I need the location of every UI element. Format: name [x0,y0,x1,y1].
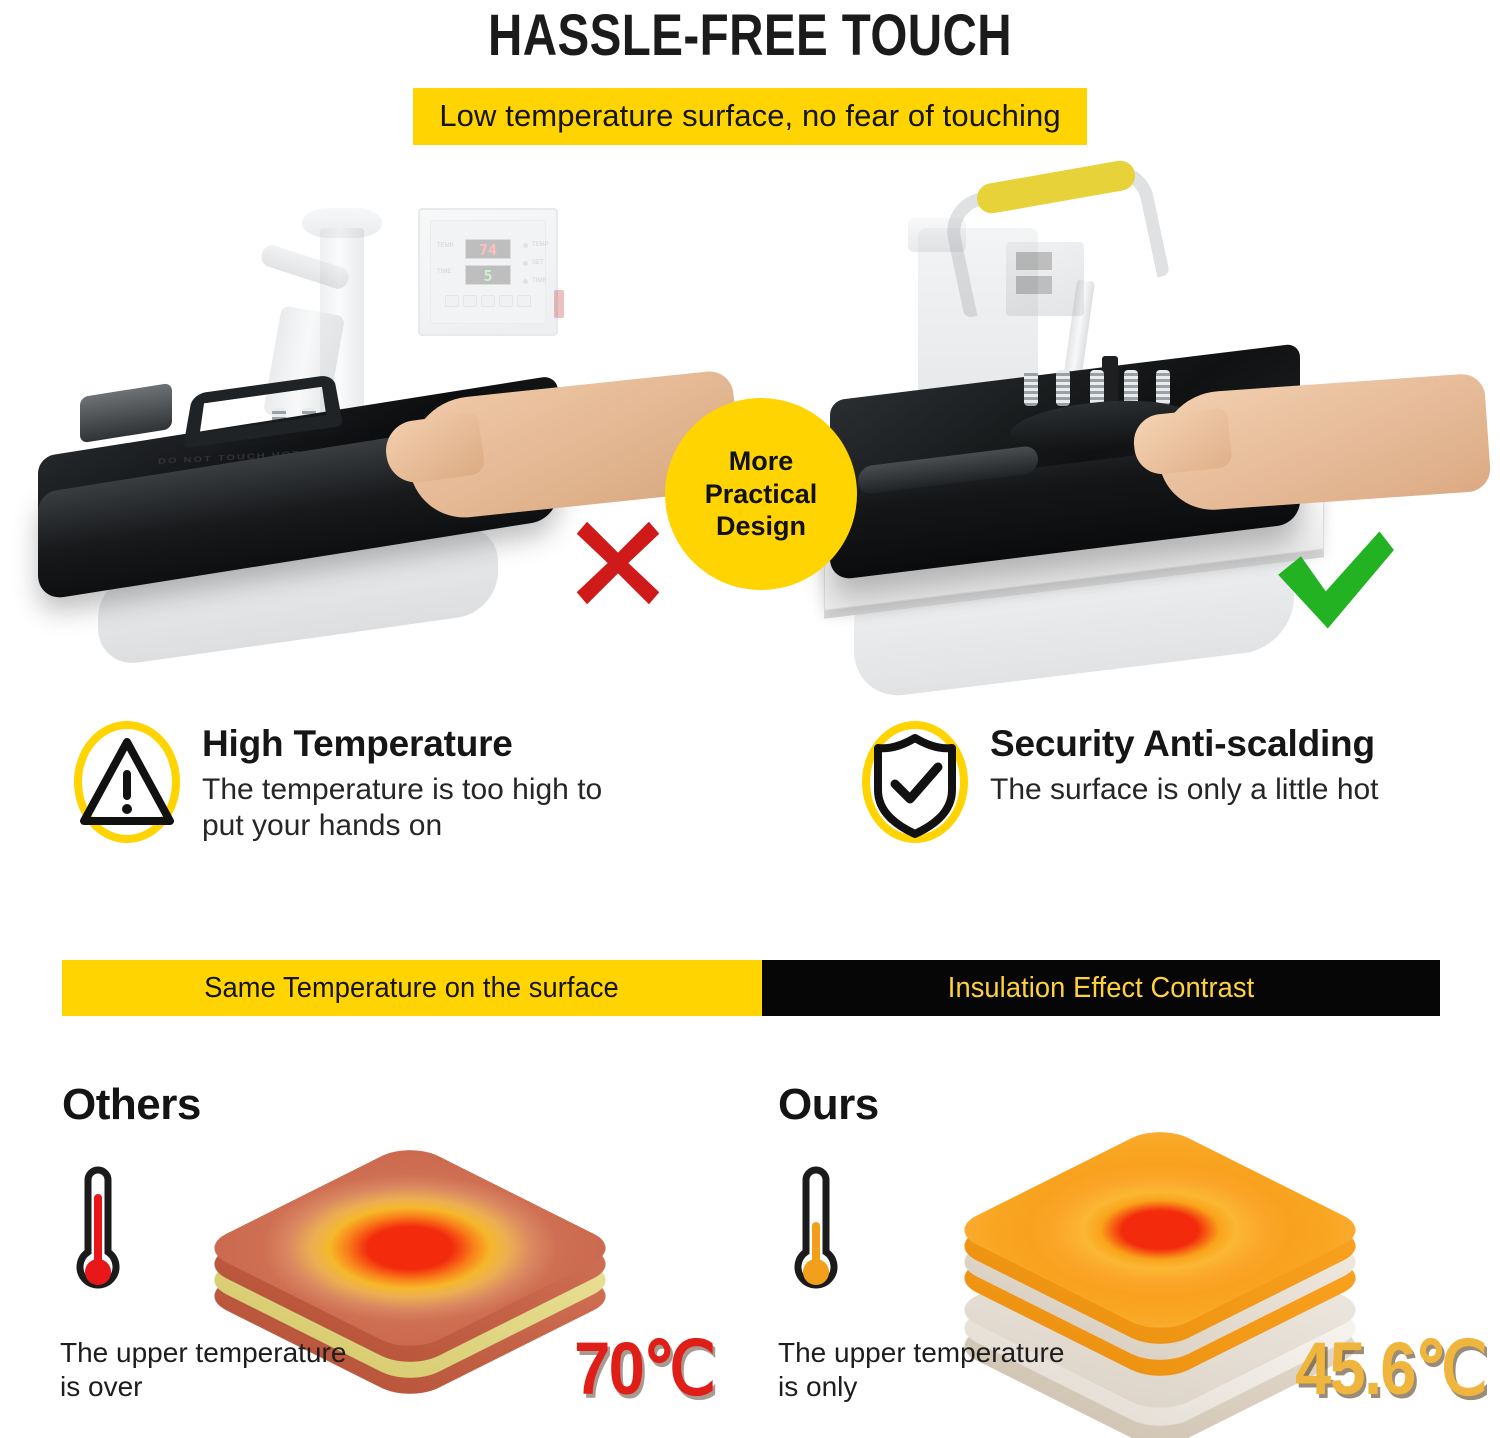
led-set-icon [523,261,528,266]
temperature-value-others: 70℃ [574,1326,714,1412]
photo-anti-scalding-press [800,160,1490,720]
comparison-ours: Ours The upper temperature is only [750,1040,1500,1438]
panel-label-time: TIME [437,269,451,275]
footnote-text-ours: The upper temperature is only [778,1336,1078,1404]
insulation-comparison: Others The upper temperature is over 70℃ [0,1040,1500,1438]
ours-plate-stack [950,1050,1370,1310]
control-box: TEMP TIME 74 5 TEMP SET TIME [418,208,558,336]
banner-label-2: Insulation Effect Contrast [948,972,1255,1005]
panel-button-4[interactable] [499,295,513,307]
fingers-right [1131,407,1233,477]
comparison-others: Others The upper temperature is over 70℃ [0,1040,750,1438]
led-label-time: TIME [532,278,546,284]
shield-check-icon [858,718,972,846]
comparison-label-ours: Ours [778,1080,879,1130]
temperature-value-ours: 45.6℃ [1295,1326,1486,1412]
panel-button-2[interactable] [463,295,477,307]
comparison-label-others: Others [62,1080,201,1130]
badge-line-1: More [729,445,794,477]
caption-heading-left: High Temperature [202,724,642,764]
caption-body-left: The temperature is too high to put your … [202,772,642,844]
banner-label-1: Same Temperature on the surface [205,972,620,1005]
led-temp-icon [523,243,528,248]
others-plate-stack [200,1050,620,1310]
lcd-temp-value: 74 [466,240,510,260]
green-check-mark [1272,528,1396,634]
footnote-text-others: The upper temperature is over [60,1336,360,1404]
caption-security-anti-scalding: Security Anti-scalding The surface is on… [858,718,1379,846]
comparison-footnote-ours: The upper temperature is only [778,1336,1078,1404]
panel-button-1[interactable] [445,295,459,307]
subtitle-bar-wrap: Low temperature surface, no fear of touc… [0,88,1500,145]
more-practical-design-badge: More Practical Design [665,398,857,590]
control-face: TEMP TIME 74 5 TEMP SET TIME [430,220,546,324]
lcd-time: 5 [465,265,511,285]
banner-same-temperature: Same Temperature on the surface [62,960,762,1016]
badge-line-3: Design [716,510,806,542]
orange-thermometer-icon [784,1160,848,1310]
panel-button-3[interactable] [481,295,495,307]
red-x-mark [575,520,661,606]
banner-row: Same Temperature on the surface Insulati… [62,960,1440,1016]
page-title: HASSLE-FREE TOUCH [135,2,1365,69]
caption-body-right: The surface is only a little hot [990,772,1379,808]
lcd-temp: 74 [465,239,511,259]
comparison-footnote-others: The upper temperature is over [60,1336,360,1404]
led-label-temp: TEMP [532,242,549,248]
panel-label-temp: TEMP [437,243,454,249]
platen-grip [80,383,172,444]
subtitle-bar: Low temperature surface, no fear of touc… [413,88,1086,145]
warning-triangle-icon [70,718,184,846]
red-thermometer-icon [66,1160,130,1310]
infographic-page: HASSLE-FREE TOUCH Low temperature surfac… [0,0,1500,1438]
panel-button-5[interactable] [517,295,531,307]
caption-row: High Temperature The temperature is too … [0,718,1500,893]
caption-text-left: High Temperature The temperature is too … [184,718,642,844]
lcd-time-value: 5 [466,266,510,286]
caption-text-right: Security Anti-scalding The surface is on… [972,718,1379,808]
badge-line-2: Practical [705,478,818,510]
photo-high-temperature-press: TEMP TIME 74 5 TEMP SET TIME [20,160,710,720]
led-label-set: SET [532,260,544,266]
caption-high-temperature: High Temperature The temperature is too … [70,718,642,846]
banner-insulation-contrast: Insulation Effect Contrast [762,960,1440,1016]
caption-heading-right: Security Anti-scalding [990,724,1379,764]
led-time-icon [523,279,528,284]
power-switch[interactable] [554,290,564,318]
